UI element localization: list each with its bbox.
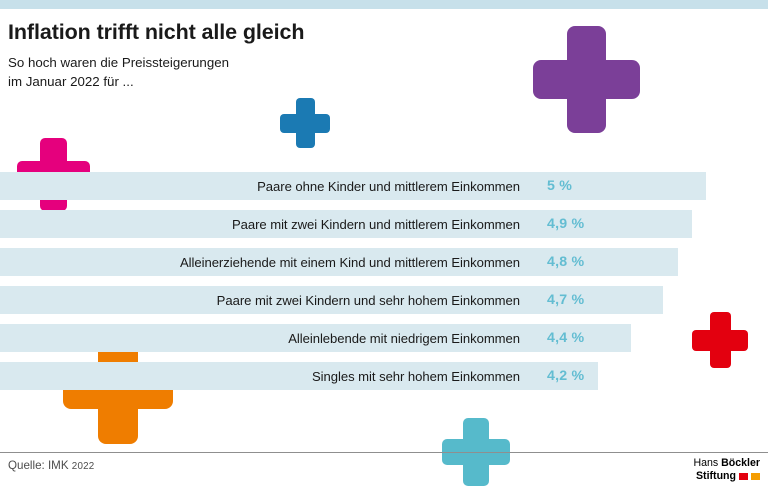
bar-label: Paare mit zwei Kindern und mittlerem Ein…	[232, 210, 520, 238]
table-row: Alleinlebende mit niedrigem Einkommen4,4…	[0, 324, 768, 352]
footer-divider	[0, 452, 768, 453]
logo-square-red-icon	[739, 473, 748, 480]
table-row: Paare ohne Kinder und mittlerem Einkomme…	[0, 172, 768, 200]
table-row: Paare mit zwei Kindern und sehr hohem Ei…	[0, 286, 768, 314]
subtitle-line-2: im Januar 2022 für ...	[8, 73, 568, 92]
bar-value: 4,9 %	[547, 210, 584, 238]
page-subtitle: So hoch waren die Preissteigerungen im J…	[8, 54, 568, 92]
bar-value: 4,7 %	[547, 286, 584, 314]
bar-label: Paare ohne Kinder und mittlerem Einkomme…	[257, 172, 520, 200]
source-note: Quelle: IMK 2022	[8, 459, 94, 472]
page-title: Inflation trifft nicht alle gleich	[8, 20, 568, 45]
cross-vertical-bar	[296, 98, 315, 148]
subtitle-line-1: So hoch waren die Preissteigerungen	[8, 54, 568, 73]
table-row: Paare mit zwei Kindern und mittlerem Ein…	[0, 210, 768, 238]
hans-boeckler-stiftung-logo: Hans Böckler Stiftung	[693, 457, 760, 483]
bar-label: Alleinerziehende mit einem Kind und mitt…	[180, 248, 520, 276]
top-accent-strip	[0, 0, 768, 9]
bar-label: Singles mit sehr hohem Einkommen	[312, 362, 520, 390]
bar-value: 4,2 %	[547, 362, 584, 390]
bar-value: 4,8 %	[547, 248, 584, 276]
bar-label: Paare mit zwei Kindern und sehr hohem Ei…	[217, 286, 520, 314]
logo-boeckler: Böckler	[721, 457, 760, 469]
table-row: Singles mit sehr hohem Einkommen4,2 %	[0, 362, 768, 390]
logo-line-2: Stiftung	[693, 470, 760, 483]
logo-stiftung: Stiftung	[696, 470, 736, 483]
header: Inflation trifft nicht alle gleich So ho…	[8, 20, 568, 91]
logo-hans: Hans	[693, 457, 721, 469]
bar-value: 5 %	[547, 172, 572, 200]
bar-chart-rows: Paare ohne Kinder und mittlerem Einkomme…	[0, 172, 768, 400]
bar-value: 4,4 %	[547, 324, 584, 352]
cross-vertical-bar	[567, 26, 606, 133]
logo-line-1: Hans Böckler	[693, 457, 760, 470]
cross-blue-icon	[280, 98, 330, 148]
source-prefix: Quelle: IMK	[8, 459, 72, 472]
infographic-canvas: Inflation trifft nicht alle gleich So ho…	[0, 0, 768, 499]
source-year: 2022	[72, 461, 95, 472]
bar-label: Alleinlebende mit niedrigem Einkommen	[288, 324, 520, 352]
logo-square-orange-icon	[751, 473, 760, 480]
table-row: Alleinerziehende mit einem Kind und mitt…	[0, 248, 768, 276]
